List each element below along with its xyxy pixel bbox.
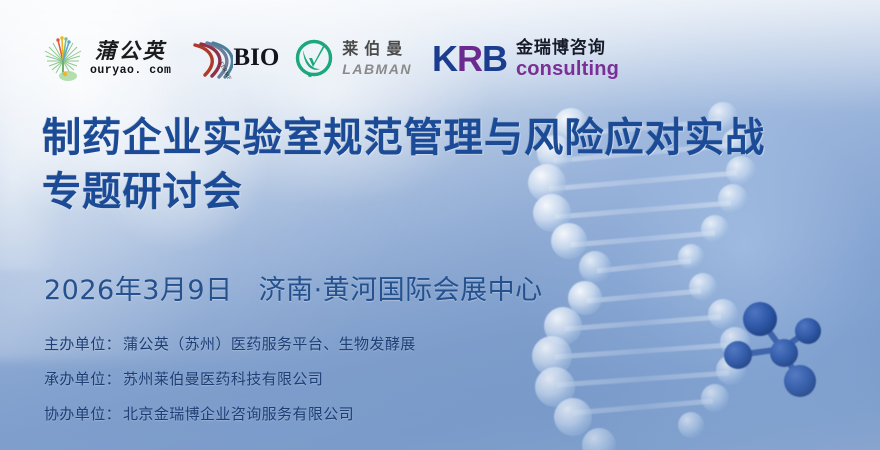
logo-ouryao-cn: 蒲公英 <box>95 41 167 62</box>
headline-line-1: 制药企业实验室规范管理与风险应对实战 <box>42 112 846 166</box>
logo-krb-en: consulting <box>516 59 619 79</box>
dandelion-icon <box>42 35 84 83</box>
logo-krb-letters: KRB <box>432 41 507 77</box>
logo-labman-en: LABMAN <box>342 62 412 76</box>
event-date: 2026年3月9日 <box>44 268 233 307</box>
headline-line-2: 专题研讨会 <box>42 166 846 220</box>
organizer-label-coorganizer: 协办单位： <box>44 405 121 423</box>
logo-ouryao-en: ouryao. com <box>90 65 171 77</box>
sponsor-logo-bar: 蒲公英 ouryao. com FERMENTATION BIO <box>42 28 619 90</box>
organizer-row-coorganizer: 协办单位：北京金瑞博企业咨询服务有限公司 <box>44 403 416 424</box>
logo-krb-letter-b: B <box>482 38 507 79</box>
logo-krb[interactable]: KRB 金瑞博咨询 consulting <box>432 28 619 90</box>
organizer-row-organizer: 承办单位：苏州莱伯曼医药科技有限公司 <box>44 368 416 389</box>
conference-poster: 蒲公英 ouryao. com FERMENTATION BIO <box>0 0 880 450</box>
bio-arcs-icon: FERMENTATION <box>189 39 233 79</box>
organizer-list: 主办单位：蒲公英（苏州）医药服务平台、生物发酵展 承办单位：苏州莱伯曼医药科技有… <box>44 333 416 424</box>
page-title: 制药企业实验室规范管理与风险应对实战 专题研讨会 <box>42 112 862 219</box>
logo-bio-text: BIO <box>233 45 279 70</box>
logo-krb-letter-k: K <box>432 38 457 79</box>
event-date-venue: 2026年3月9日 济南·黄河国际会展中心 <box>44 268 543 307</box>
logo-krb-cn: 金瑞博咨询 <box>516 39 619 56</box>
logo-labman-cn: 莱伯曼 <box>342 42 412 58</box>
organizer-value-host: 蒲公英（苏州）医药服务平台、生物发酵展 <box>123 335 416 353</box>
logo-labman[interactable]: 莱伯曼 LABMAN <box>295 28 432 90</box>
organizer-value-coorganizer: 北京金瑞博企业咨询服务有限公司 <box>123 405 354 423</box>
logo-krb-letter-r: R <box>457 38 482 79</box>
organizer-row-host: 主办单位：蒲公英（苏州）医药服务平台、生物发酵展 <box>44 333 416 354</box>
logo-bio[interactable]: FERMENTATION BIO <box>189 28 295 90</box>
organizer-label-host: 主办单位： <box>44 335 121 353</box>
logo-ouryao[interactable]: 蒲公英 ouryao. com <box>42 28 189 90</box>
event-venue: 济南·黄河国际会展中心 <box>259 268 543 307</box>
labman-leaf-icon <box>295 39 335 79</box>
organizer-label-organizer: 承办单位： <box>44 370 121 388</box>
organizer-value-organizer: 苏州莱伯曼医药科技有限公司 <box>123 370 323 388</box>
